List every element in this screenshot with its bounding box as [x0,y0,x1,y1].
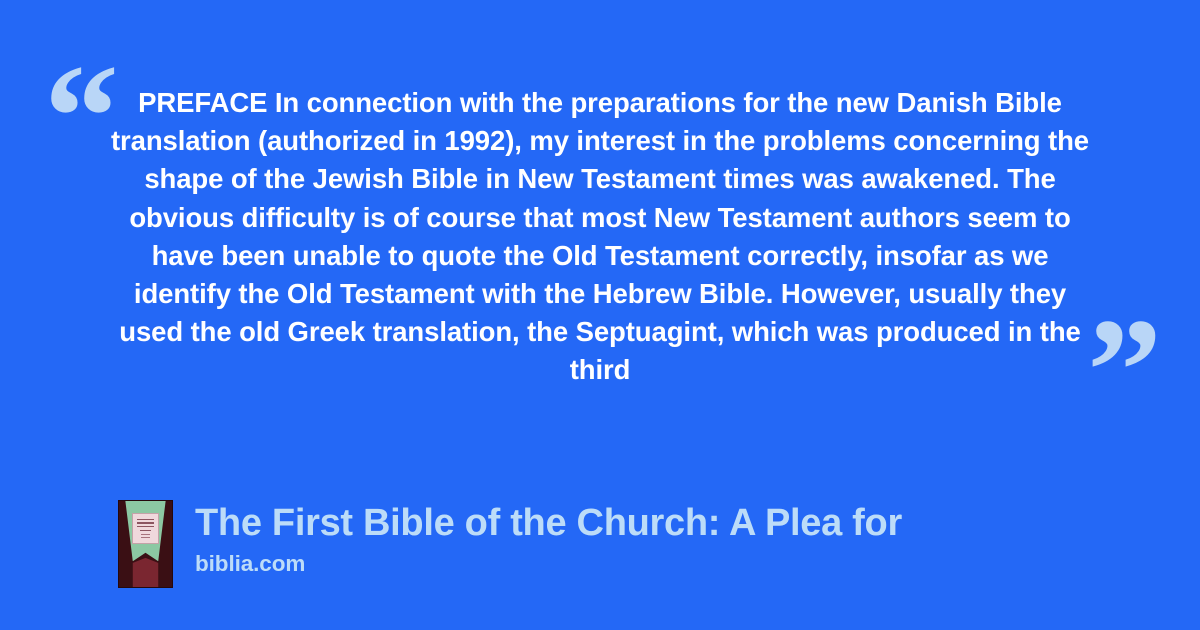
closing-quote-icon: ” [1087,296,1162,446]
quote-card: “ PREFACE In connection with the prepara… [0,0,1200,630]
book-cover-label [132,513,160,544]
site-name: biblia.com [195,550,902,578]
book-cover-base [119,556,172,587]
book-cover-label-line [141,537,149,538]
book-cover-label-line [137,519,154,520]
book-title: The First Bible of the Church: A Plea fo… [195,500,902,546]
book-cover-label-line [137,526,154,527]
footer-text: The First Bible of the Church: A Plea fo… [195,500,902,578]
book-cover-label-line [141,534,149,535]
footer: The First Bible of the Church: A Plea fo… [118,500,902,588]
quote-block: “ PREFACE In connection with the prepara… [0,46,1200,426]
book-cover-label-line [140,530,151,531]
quote-text: PREFACE In connection with the preparati… [108,84,1092,390]
book-cover-label-line [137,522,154,523]
book-cover-thumbnail [118,500,173,588]
